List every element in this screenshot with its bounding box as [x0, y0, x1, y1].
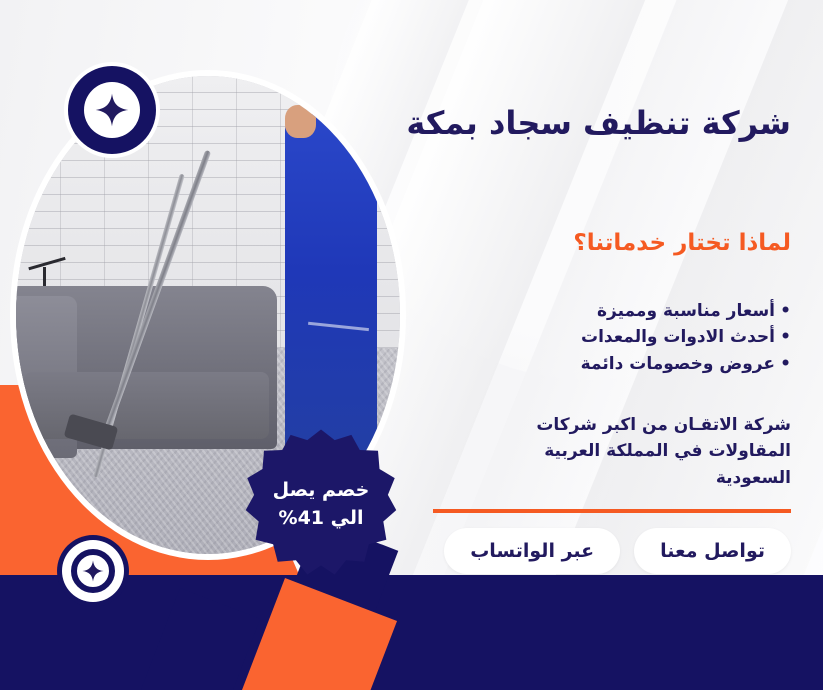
orange-divider: [433, 509, 791, 513]
logo-top: [68, 66, 156, 154]
ad-banner: خصم يصل الي 41% شركة تنظيف سجاد بمكة لما…: [0, 0, 823, 690]
page-title: شركة تنظيف سجاد بمكة: [321, 104, 791, 142]
logo-top-inner: [84, 82, 140, 138]
list-item: أسعار مناسبة ومميزة: [321, 298, 791, 324]
contact-us-button[interactable]: تواصل معنا: [634, 528, 791, 574]
logo-bottom-inner: [71, 549, 115, 593]
logo-bottom: [62, 540, 124, 602]
cta-button-row: تواصل معنا عبر الواتساب: [444, 528, 791, 574]
whatsapp-button[interactable]: عبر الواتساب: [444, 528, 620, 574]
description-paragraph: شركة الاتقـان من اكبر شركات المقاولات في…: [513, 412, 791, 491]
photo-sofa-seat: [24, 372, 270, 439]
photo-worker-hand: [285, 105, 316, 138]
sparkle-icon: [95, 93, 129, 127]
content-column: شركة تنظيف سجاد بمكة لماذا تختار خدماتنا…: [321, 0, 791, 690]
list-item: عروض وخصومات دائمة: [321, 351, 791, 377]
list-item: أحدث الادوات والمعدات: [321, 324, 791, 350]
sparkle-icon: [82, 560, 104, 582]
subtitle: لماذا تختار خدماتنا؟: [321, 230, 791, 256]
benefits-list: أسعار مناسبة ومميزة أحدث الادوات والمعدا…: [321, 298, 791, 377]
